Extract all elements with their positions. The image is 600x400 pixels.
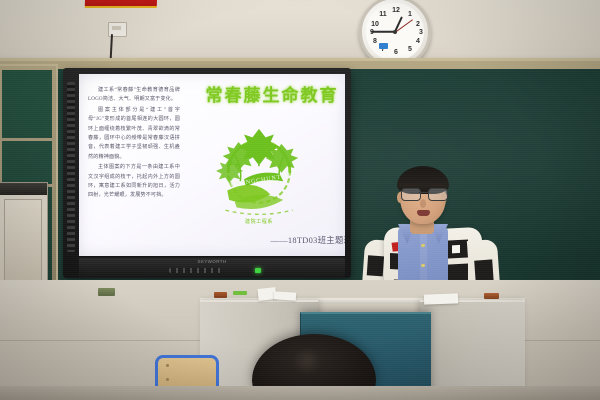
glasses-lens-right	[428, 188, 448, 201]
ivy-logo-graphic: CHANGCHUNTENG	[203, 114, 315, 226]
clock-numeral: 1	[405, 10, 415, 20]
paper-sheet[interactable]	[274, 291, 296, 300]
power-led-icon	[255, 268, 261, 273]
clock-numeral: 5	[405, 45, 415, 55]
floor-strip	[0, 386, 600, 400]
slide-body-text: 建工系“常春藤”生命教育德育品牌LOGO简洁、大气、明朗又富于变化。 图案主体部…	[88, 86, 180, 202]
slide-content: 建工系“常春藤”生命教育德育品牌LOGO简洁、大气、明朗又富于变化。 图案主体部…	[79, 74, 345, 256]
ivy-logo: CHANGCHUNTENG 建院工程系	[203, 114, 315, 226]
smartboard-control-buttons[interactable]	[169, 268, 221, 273]
chalk-eraser[interactable]	[98, 288, 115, 296]
cabinet-door[interactable]	[4, 199, 42, 284]
nose	[420, 199, 426, 208]
smartboard-bezel: SKYWORTH	[79, 258, 345, 278]
paper-notes[interactable]	[424, 293, 458, 304]
glasses-bridge	[419, 192, 428, 193]
clock-badge	[379, 43, 388, 49]
board-eraser-left[interactable]	[214, 292, 227, 298]
desk-right-section	[420, 300, 525, 400]
projection-screen: 建工系“常春藤”生命教育德育品牌LOGO简洁、大气、明朗又富于变化。 图案主体部…	[79, 74, 345, 256]
smartboard-brand-label: SKYWORTH	[197, 259, 226, 264]
slide-footer: ——18TD03班主题班会	[183, 234, 345, 246]
wall-cabinet[interactable]	[0, 182, 48, 290]
logo-caption: 建院工程系	[203, 218, 315, 225]
glasses-lens-left	[401, 188, 421, 201]
classroom-photo: 12 1 2 3 4 5 6 7 8 9 10 11	[0, 0, 600, 400]
slide-paragraph: 主体图案的下方是一条由建工系中文汉字组成的枝干，托起内外上方的圆环，寓意建工系如…	[88, 163, 180, 201]
board-eraser-right[interactable]	[484, 293, 499, 299]
clock-face: 12 1 2 3 4 5 6 7 8 9 10 11	[366, 3, 424, 61]
speaker-grille	[67, 82, 75, 252]
hair-swirl	[290, 348, 324, 374]
clock-center-pin	[393, 30, 397, 34]
smart-board[interactable]: 建工系“常春藤”生命教育德育品牌LOGO简洁、大气、明朗又富于变化。 图案主体部…	[63, 68, 351, 278]
cabinet-header	[0, 183, 47, 195]
mouth	[417, 210, 430, 216]
slide-paragraph: 建工系“常春藤”生命教育德育品牌LOGO简洁、大气、明朗又富于变化。	[88, 86, 180, 105]
slide-title: 常春藤生命教育	[183, 86, 345, 106]
slide-paragraph: 图案主体部分是“建工”首字母“JG”变形成的首尾相连的大圆环，圆环上面缠绕着枝繁…	[88, 106, 180, 162]
green-marker[interactable]	[233, 291, 247, 295]
clock-numeral: 10	[370, 20, 380, 30]
clock-numeral: 11	[378, 10, 388, 20]
clock-numeral: 6	[391, 48, 401, 58]
panel-rail	[0, 138, 54, 141]
clock-numeral: 12	[391, 6, 401, 16]
clock-minute-hand	[371, 31, 395, 33]
red-banner	[85, 0, 158, 8]
